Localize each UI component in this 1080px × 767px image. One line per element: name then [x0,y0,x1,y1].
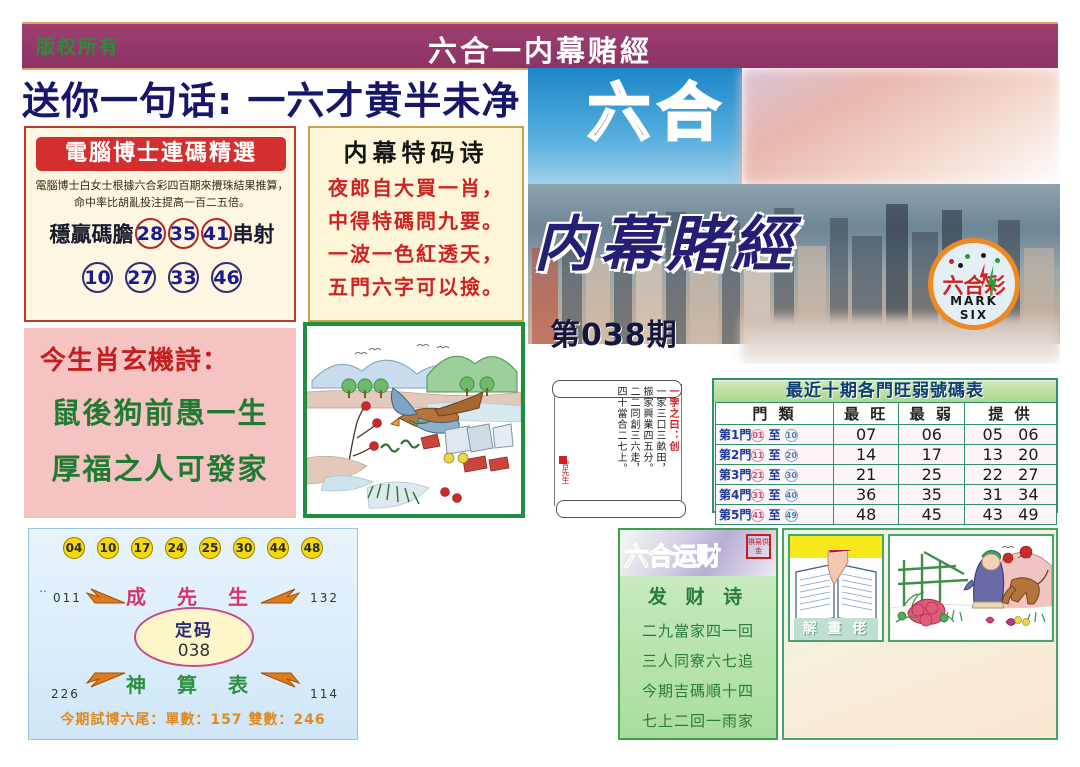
inside-poem-box: 内幕特码诗 夜郎自大買一肖， 中得特碼問九要。 一波一色紅透天， 五門六字可以撿… [308,126,524,322]
luck-poem-line: 三人同寮六七追 [620,646,776,676]
lucky-ball: 28 [135,218,166,249]
fortune-ball: 44 [267,537,289,559]
cell-category: 第1門01 至 10 [716,425,834,445]
col-header-strong: 最 旺 [833,403,899,425]
logo-subtitle: MARK SIX [933,294,1015,322]
cell-offer: 05 06 [965,425,1057,445]
cell-weak: 25 [899,465,965,485]
hero-word-secondary: 内幕賭經 [534,196,798,283]
page-header: 版权所有 六合一内幕赌經 [22,22,1058,70]
computer-doctor-description: 電腦博士白女士根據六合彩四百期來攪珠結果推算，命中率比胡亂投注提高一百二五倍。 [34,177,290,211]
newspaper-page: 版权所有 六合一内幕赌經 送你一句话: 一六才黄半未净 電腦博士連碼精選 電腦博… [0,0,1080,767]
arrow-down-right-icon [259,671,301,691]
inside-poem-title: 内幕特码诗 [310,133,522,168]
cell-category: 第2門11 至 20 [716,445,834,465]
luck-poem-lines: 二九當家四一回 三人同寮六七追 今期吉碼順十四 七上二回一雨家 [620,616,776,736]
table-row: 第4門31 至 40 36 35 31 34 [716,485,1057,505]
scroll-columns: 一孛之曰：创 一家三口三畝田， 振家興業四五分。 二二同創三六走， 四十當合二七… [556,386,678,504]
fixed-code-title: 定码 [136,616,252,641]
table-row: 第5門41 至 49 48 45 43 49 [716,505,1057,525]
fortune-ball: 10 [97,537,119,559]
cell-offer: 22 27 [965,465,1057,485]
cell-category: 第4門31 至 40 [716,485,834,505]
scene-illustration [890,536,1052,640]
table-row: 第1門01 至 10 07 06 05 06 [716,425,1057,445]
lucky-numbers-secondary-row: 10273346 [34,262,290,293]
lucky-ball: 33 [168,262,199,293]
lucky-ball: 41 [201,218,232,249]
poem-line: 中得特碼問九要。 [310,205,522,238]
scroll-column: 四十當合二七上。 [614,386,626,504]
lucky-ball: 46 [211,262,242,293]
luck-poem-line: 二九當家四一回 [620,616,776,646]
fortune-ball: 48 [301,537,323,559]
zodiac-poem-line: 厚福之人可發家 [36,446,284,488]
fortune-footer: 今期試博六尾：單數：157 雙數：246 [29,709,357,729]
table-header-row: 門 類 最 旺 最 弱 提 供 [716,403,1057,425]
scroll-column: 一家三口三畝田， [653,386,665,504]
table-row: 第2門11 至 20 14 17 13 20 [716,445,1057,465]
lucky-ball: 35 [168,218,199,249]
cell-strong: 14 [833,445,899,465]
lucky-prefix-label: 穩贏碼膽 [50,223,134,247]
corner-value-bottom-right: 114 [310,687,339,701]
fixed-code-oval: 定码 038 [134,607,254,667]
cell-strong: 36 [833,485,899,505]
seal-stamp-icon: 祺易供金 [746,534,771,559]
scroll-column: 振家興業四五分。 [640,386,652,504]
strength-table-title: 最近十期各門旺弱號碼表 [714,381,1056,402]
cell-weak: 35 [899,485,965,505]
lucky-suffix-label: 串射 [233,223,275,247]
luck-poem-line: 今期吉碼順十四 [620,676,776,706]
fortune-ball: 30 [233,537,255,559]
computer-doctor-ribbon: 電腦博士連碼精選 [36,137,286,171]
lucky-numbers-primary-row: 穩贏碼膽283541串射 [34,218,290,249]
poem-line: 五門六字可以撿。 [310,271,522,304]
fortune-ball: 17 [131,537,153,559]
scroll-column: 一孛之曰：创 [666,386,678,504]
poem-line: 夜郎自大買一肖， [310,172,522,205]
cell-category: 第3門21 至 30 [716,465,834,485]
cell-weak: 45 [899,505,965,525]
col-header-offer: 提 供 [965,403,1057,425]
hero-blurred-region [742,68,1060,186]
scene-illustration-box [888,534,1054,642]
hero-word-primary: 六合 [588,68,728,152]
arrow-up-left-icon [85,585,127,605]
col-header-category: 門 類 [716,403,834,425]
luck-poem-line: 七上二回一雨家 [620,706,776,736]
cell-weak: 06 [899,425,965,445]
luck-poem-panel: 六合运财 祺易供金 发 财 诗 二九當家四一回 三人同寮六七追 今期吉碼順十四 … [618,528,778,740]
mark-six-logo: 六合彩 MARK SIX [928,238,1020,330]
zodiac-poem-title: 今生肖玄機詩： [40,340,229,377]
fortune-ball: 04 [63,537,85,559]
computer-doctor-box: 電腦博士連碼精選 電腦博士白女士根據六合彩四百期來攪珠結果推算，命中率比胡亂投注… [24,126,296,322]
arrow-down-left-icon [85,671,127,691]
cell-offer: 13 20 [965,445,1057,465]
strength-table: 門 類 最 旺 最 弱 提 供 第1門01 至 10 07 06 05 06 第… [715,402,1057,525]
landscape-illustration-box [303,322,525,518]
poem-line: 一波一色紅透天， [310,238,522,271]
arrow-up-right-icon [259,585,301,605]
fortune-ball: 25 [199,537,221,559]
cell-offer: 43 49 [965,505,1057,525]
inside-poem-lines: 夜郎自大買一肖， 中得特碼問九要。 一波一色紅透天， 五門六字可以撿。 [310,172,522,304]
luck-poem-heading: 发 财 诗 [620,582,776,609]
scroll-column: 二二同創三六走， [627,386,639,504]
scroll-signature: 曾先生 [560,460,571,484]
fortune-ball: 24 [165,537,187,559]
cell-weak: 17 [899,445,965,465]
cell-strong: 48 [833,505,899,525]
book-illustration-box: 解 畫 佬 [788,534,884,642]
hero-blurred-bottom [742,316,1060,364]
hero-banner: 六合 内幕賭經 第038期 六合彩 MARK SIX [528,68,1060,364]
landscape-illustration [307,326,521,514]
page-title: 六合一内幕赌經 [22,28,1058,70]
fortune-chart-panel: 0410172425304448 ‥ 成 先 生 神 算 表 011 132 2… [28,528,358,740]
cell-category: 第5門41 至 49 [716,505,834,525]
strength-table-box: 最近十期各門旺弱號碼表 門 類 最 旺 最 弱 提 供 第1門01 至 10 0… [712,378,1058,513]
lucky-ball: 27 [125,262,156,293]
scroll-poem-box: 一孛之曰：创 一家三口三畝田， 振家興業四五分。 二二同創三六走， 四十當合二七… [530,372,710,528]
fixed-code-value: 038 [136,641,252,661]
corner-value-top-left: 011 [53,591,82,605]
zodiac-poem-line: 鼠後狗前愚一生 [36,390,284,432]
fortune-ball-row: 0410172425304448 [29,537,357,559]
lucky-ball: 10 [82,262,113,293]
corner-value-bottom-left: 226 [51,687,80,701]
corner-value-top-right: 132 [310,591,339,605]
cell-strong: 07 [833,425,899,445]
cell-offer: 31 34 [965,485,1057,505]
picture-panel-label: 解 畫 佬 [794,618,878,640]
issue-number: 第038期 [550,310,678,354]
headline: 送你一句话: 一六才黄半未净 [22,70,522,118]
col-header-weak: 最 弱 [899,403,965,425]
table-row: 第3門21 至 30 21 25 22 27 [716,465,1057,485]
zodiac-poem-box: 今生肖玄機詩： 鼠後狗前愚一生 厚福之人可發家 [24,328,296,518]
picture-interpretation-panel: 解 畫 佬 [782,528,1058,740]
luck-banner-title: 六合运财 [624,537,720,573]
cell-strong: 21 [833,465,899,485]
